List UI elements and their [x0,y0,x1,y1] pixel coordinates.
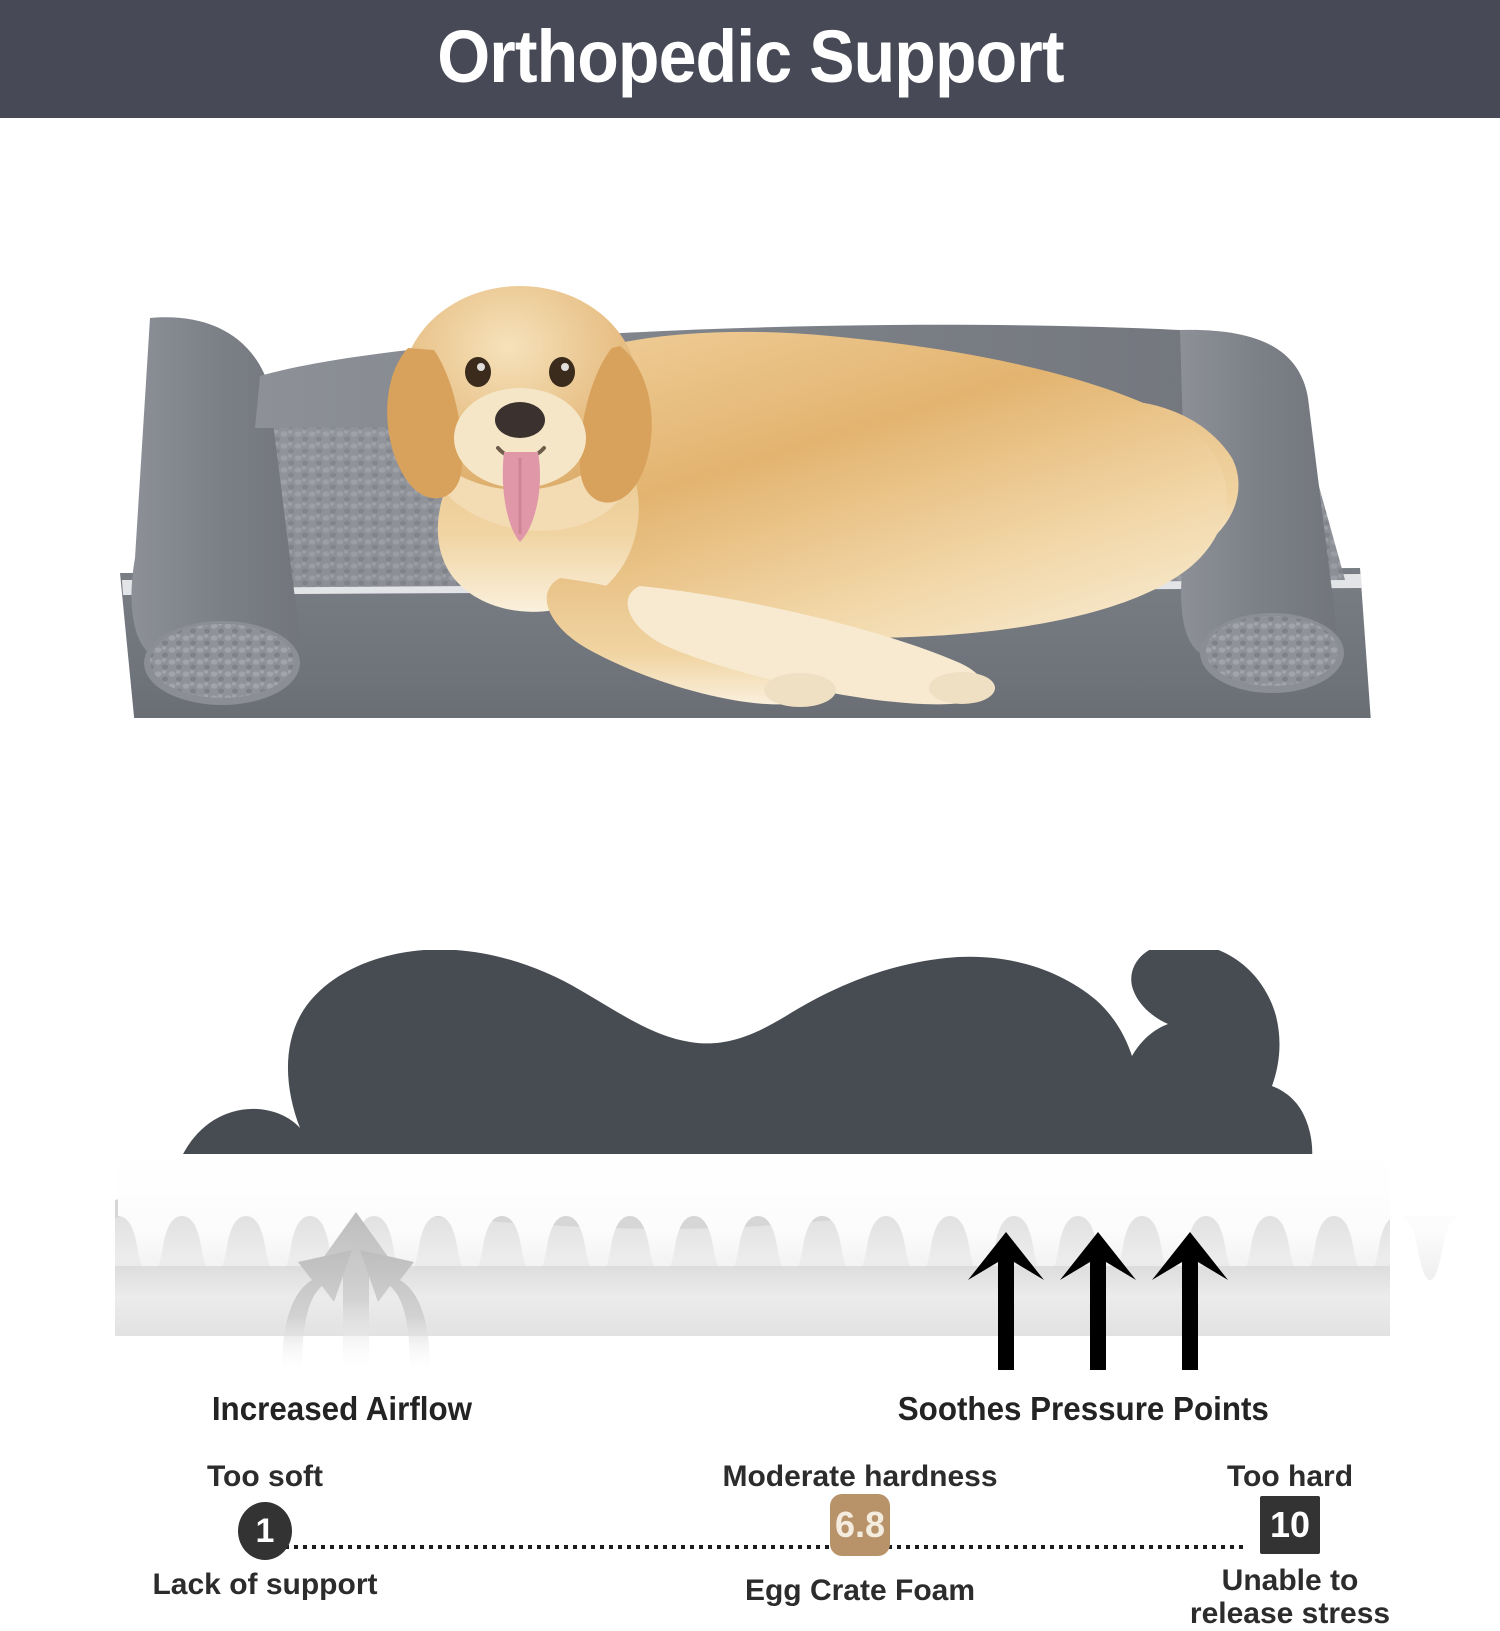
scale-node-moderate: Moderate hardness 6.8 Egg Crate Foam [700,1460,1020,1607]
scale-node-too-hard: Too hard 10 Unable to release stress [1120,1460,1460,1631]
scale-badge-1: 1 [238,1502,292,1560]
page-title: Orthopedic Support [437,20,1063,94]
scale-badge-6-8: 6.8 [830,1494,890,1556]
scale-badge-10: 10 [1260,1496,1320,1554]
scale-node-bottom-label: Egg Crate Foam [700,1574,1020,1608]
scale-node-bottom-line2: release stress [1120,1597,1460,1631]
scale-node-top-label: Moderate hardness [700,1460,1020,1494]
header-bar: Orthopedic Support [0,0,1500,118]
pressure-point-arrows [968,1232,1228,1370]
scale-node-bottom-label: Lack of support [150,1568,380,1602]
scale-node-bottom-label: Unable to release stress [1120,1564,1460,1631]
foam-block [115,1154,1462,1336]
scale-node-top-label: Too soft [150,1460,380,1494]
scale-node-bottom-line1: Unable to [1120,1564,1460,1598]
scale-node-too-soft: Too soft 1 Lack of support [150,1460,380,1601]
egg-crate-foam-illustration [0,950,1500,1370]
hardness-scale: Too soft 1 Lack of support Moderate hard… [0,725,1500,940]
caption-soothes-pressure-points: Soothes Pressure Points [898,1392,1269,1425]
foam-cross-section-diagram [0,950,1500,1370]
scale-node-top-label: Too hard [1120,1460,1460,1494]
dog-bed-illustration [0,118,1500,718]
caption-increased-airflow: Increased Airflow [212,1392,472,1425]
hero-product-photo [0,118,1500,718]
